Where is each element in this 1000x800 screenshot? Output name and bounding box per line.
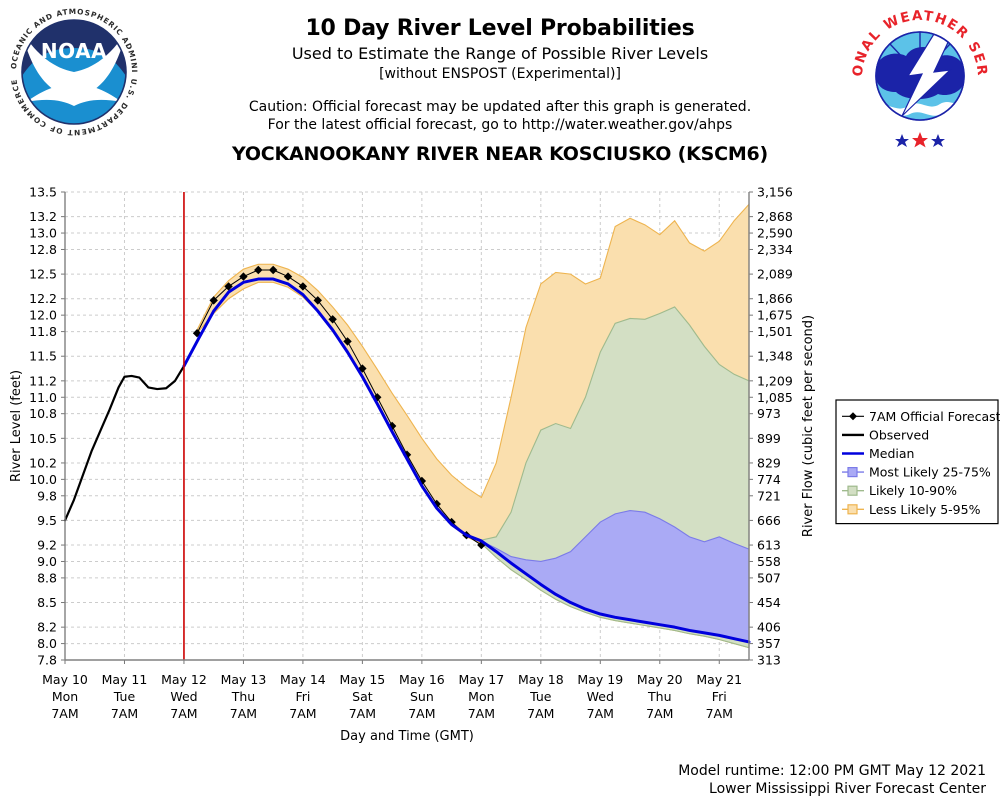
y-tick-right: 558: [757, 554, 781, 569]
y-tick-right: 1,501: [757, 324, 793, 339]
y-tick-right: 721: [757, 488, 781, 503]
legend-label: Most Likely 25-75%: [869, 465, 991, 480]
x-tick-label: May 10Mon7AM: [42, 672, 88, 721]
y-tick-left: 13.2: [29, 209, 57, 224]
x-tick-label: May 19Wed7AM: [577, 672, 623, 721]
y-tick-right: 829: [757, 455, 781, 470]
y-tick-left: 10.5: [29, 431, 57, 446]
y-tick-left: 12.0: [29, 308, 57, 323]
svg-text:Sun: Sun: [410, 689, 434, 704]
svg-text:Mon: Mon: [52, 689, 78, 704]
y-tick-left: 11.5: [29, 349, 57, 364]
svg-text:Thu: Thu: [647, 689, 671, 704]
y-tick-right: 1,348: [757, 349, 793, 364]
river-level-chart: 13.53,15613.22,86813.02,59012.82,33412.5…: [0, 0, 1000, 800]
y-tick-left: 9.5: [37, 513, 57, 528]
chart-area: 13.53,15613.22,86813.02,59012.82,33412.5…: [0, 0, 1000, 800]
svg-text:May 21: May 21: [696, 672, 742, 687]
svg-text:May 13: May 13: [221, 672, 267, 687]
y-tick-left: 13.0: [29, 226, 57, 241]
y-tick-left: 8.0: [37, 636, 57, 651]
y-tick-right: 666: [757, 513, 781, 528]
legend-label: Likely 10-90%: [869, 483, 957, 498]
svg-text:May 15: May 15: [340, 672, 386, 687]
y-tick-right: 2,590: [757, 226, 793, 241]
svg-text:Fri: Fri: [712, 689, 727, 704]
y-tick-right: 313: [757, 653, 781, 668]
y-tick-right: 1,085: [757, 390, 793, 405]
y-tick-right: 973: [757, 406, 781, 421]
svg-text:7AM: 7AM: [289, 706, 316, 721]
y-tick-left: 9.2: [37, 538, 57, 553]
x-tick-label: May 15Sat7AM: [340, 672, 386, 721]
x-tick-label: May 20Thu7AM: [637, 672, 683, 721]
y-axis-label-right: River Flow (cubic feet per second): [801, 315, 816, 537]
x-tick-label: May 18Tue7AM: [518, 672, 564, 721]
forecast-center: Lower Mississippi River Forecast Center: [709, 781, 986, 797]
y-tick-left: 10.0: [29, 472, 57, 487]
y-tick-left: 10.2: [29, 455, 57, 470]
legend-label: Median: [869, 446, 914, 461]
y-tick-left: 7.8: [37, 653, 57, 668]
svg-text:7AM: 7AM: [646, 706, 673, 721]
svg-text:7AM: 7AM: [230, 706, 257, 721]
svg-text:7AM: 7AM: [468, 706, 495, 721]
y-tick-left: 8.2: [37, 620, 57, 635]
svg-text:May 17: May 17: [458, 672, 504, 687]
y-axis-label-left: River Level (feet): [9, 370, 24, 482]
svg-text:Wed: Wed: [587, 689, 614, 704]
y-tick-right: 1,675: [757, 308, 793, 323]
y-tick-right: 507: [757, 570, 781, 585]
y-tick-left: 11.2: [29, 373, 57, 388]
y-tick-right: 613: [757, 538, 781, 553]
legend-label: Less Likely 5-95%: [869, 502, 981, 517]
svg-text:Wed: Wed: [170, 689, 197, 704]
svg-text:7AM: 7AM: [170, 706, 197, 721]
svg-text:Tue: Tue: [529, 689, 552, 704]
svg-text:May 19: May 19: [577, 672, 623, 687]
y-tick-right: 2,334: [757, 242, 793, 257]
x-tick-label: May 11Tue7AM: [102, 672, 148, 721]
y-tick-right: 357: [757, 636, 781, 651]
y-tick-right: 2,868: [757, 209, 793, 224]
svg-text:7AM: 7AM: [408, 706, 435, 721]
svg-text:May 18: May 18: [518, 672, 564, 687]
svg-text:7AM: 7AM: [349, 706, 376, 721]
x-tick-label: May 17Mon7AM: [458, 672, 504, 721]
y-tick-left: 9.0: [37, 554, 57, 569]
svg-text:Sat: Sat: [352, 689, 373, 704]
y-tick-right: 2,089: [757, 267, 793, 282]
svg-text:May 20: May 20: [637, 672, 683, 687]
y-tick-left: 9.8: [37, 488, 57, 503]
svg-text:7AM: 7AM: [706, 706, 733, 721]
x-axis-label: Day and Time (GMT): [340, 729, 474, 744]
y-tick-right: 1,209: [757, 373, 793, 388]
y-tick-left: 12.5: [29, 267, 57, 282]
x-tick-label: May 13Thu7AM: [221, 672, 267, 721]
svg-text:May 10: May 10: [42, 672, 88, 687]
svg-text:Thu: Thu: [231, 689, 255, 704]
y-tick-left: 13.5: [29, 185, 57, 200]
svg-text:May 12: May 12: [161, 672, 207, 687]
y-tick-right: 899: [757, 431, 781, 446]
y-tick-right: 406: [757, 620, 781, 635]
y-tick-left: 12.2: [29, 291, 57, 306]
svg-text:7AM: 7AM: [111, 706, 138, 721]
x-tick-label: May 21Fri7AM: [696, 672, 742, 721]
x-tick-label: May 16Sun7AM: [399, 672, 445, 721]
y-tick-left: 10.8: [29, 406, 57, 421]
y-tick-left: 8.8: [37, 570, 57, 585]
model-runtime: Model runtime: 12:00 PM GMT May 12 2021: [678, 763, 986, 779]
y-tick-left: 8.5: [37, 595, 57, 610]
svg-text:7AM: 7AM: [51, 706, 78, 721]
y-tick-right: 454: [757, 595, 781, 610]
svg-text:7AM: 7AM: [587, 706, 614, 721]
svg-text:May 11: May 11: [102, 672, 148, 687]
y-tick-right: 774: [757, 472, 781, 487]
y-tick-left: 11.8: [29, 324, 57, 339]
svg-text:Tue: Tue: [113, 689, 136, 704]
x-tick-label: May 14Fri7AM: [280, 672, 326, 721]
y-tick-left: 11.0: [29, 390, 57, 405]
svg-text:Fri: Fri: [295, 689, 310, 704]
svg-text:May 16: May 16: [399, 672, 445, 687]
svg-text:May 14: May 14: [280, 672, 326, 687]
svg-text:Mon: Mon: [468, 689, 494, 704]
y-tick-right: 3,156: [757, 185, 793, 200]
y-tick-left: 12.8: [29, 242, 57, 257]
y-tick-right: 1,866: [757, 291, 793, 306]
legend-label: 7AM Official Forecast: [869, 409, 1000, 424]
svg-text:7AM: 7AM: [527, 706, 554, 721]
legend: 7AM Official ForecastObservedMedianMost …: [836, 400, 1000, 524]
x-tick-label: May 12Wed7AM: [161, 672, 207, 721]
legend-label: Observed: [869, 427, 929, 442]
